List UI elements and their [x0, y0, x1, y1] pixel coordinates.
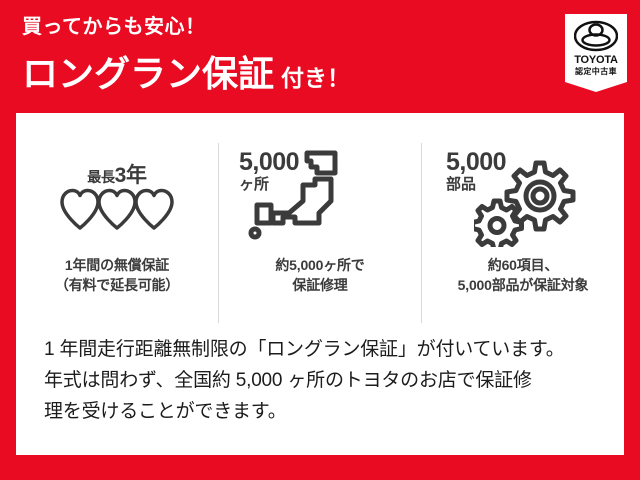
toyota-wordmark: TOYOTA [565, 55, 627, 66]
header-text-group: 買ってからも安心！ ロングラン保証付き！ [22, 16, 542, 97]
feature-3-caption: 約60項目、 5,000部品が保証対象 [458, 255, 589, 296]
header-headline: ロングラン保証付き！ [22, 45, 542, 97]
feature-2-artwork: 5,000 ヶ所 [219, 143, 421, 255]
body-copy-line3: 理を受けることができます。 [44, 397, 604, 428]
toyota-certified-logo: TOYOTA 認定中古車 [565, 14, 627, 96]
feature-warranty-period: 最長3年 1年間の無償保証 （有料で延長可能） [16, 143, 218, 323]
headline-suffix-text: 付き！ [281, 65, 350, 91]
feature-3-caption-line1: 約60項目、 [458, 255, 589, 275]
feature-2-caption-line1: 約5,000ヶ所で [275, 255, 364, 275]
warranty-banner: 買ってからも安心！ ロングラン保証付き！ TOYOTA 認定中古車 [0, 0, 640, 480]
body-copy-line2: 年式は問わず、全国約 5,000 ヶ所のトヨタのお店で保証修 [44, 366, 604, 397]
logo-chevron-shape [565, 79, 627, 96]
feature-2-number: 5,000 [239, 149, 299, 175]
feature-1-label-small: 最長 [87, 169, 114, 185]
banner-header: 買ってからも安心！ ロングラン保証付き！ TOYOTA 認定中古車 [0, 0, 640, 113]
feature-1-caption-line1: 1年間の無償保証 [55, 255, 179, 275]
body-copy-line1: 1 年間走行距離無制限の「ロングラン保証」が付いています。 [44, 335, 604, 366]
feature-columns: 最長3年 1年間の無償保証 （有料で延長可能） [16, 143, 624, 323]
feature-1-caption-line2: （有料で延長可能） [55, 275, 179, 295]
feature-3-unit: 部品 [446, 177, 506, 193]
toyota-emblem-icon [574, 20, 618, 52]
header-kicker: 買ってからも安心！ [22, 16, 542, 38]
feature-3-artwork: 5,000 部品 [422, 143, 624, 255]
feature-2-caption-line2: 保証修理 [275, 275, 364, 295]
toyota-certified-label: 認定中古車 [565, 68, 627, 76]
headline-main-text: ロングラン保証 [22, 53, 274, 94]
feature-2-caption: 約5,000ヶ所で 保証修理 [275, 255, 364, 296]
feature-3-number: 5,000 [446, 149, 506, 175]
feature-service-locations: 5,000 ヶ所 約5,000ヶ所で 保証修理 [218, 143, 421, 323]
body-copy: 1 年間走行距離無制限の「ロングラン保証」が付いています。 年式は問わず、全国約… [44, 335, 604, 427]
feature-1-artwork: 最長3年 [16, 143, 218, 255]
bottom-red-bar [0, 455, 640, 480]
feature-1-caption: 1年間の無償保証 （有料で延長可能） [55, 255, 179, 296]
feature-1-label-large: 3年 [115, 164, 147, 187]
content-card: 最長3年 1年間の無償保証 （有料で延長可能） [16, 113, 624, 455]
feature-covered-parts: 5,000 部品 約60項目、 5,000部品が保証対象 [421, 143, 624, 323]
feature-3-caption-line2: 5,000部品が保証対象 [458, 275, 589, 295]
feature-3-label: 5,000 部品 [446, 149, 506, 193]
feature-2-label: 5,000 ヶ所 [239, 149, 299, 193]
feature-2-unit: ヶ所 [239, 177, 299, 193]
three-hearts-icon [59, 185, 175, 231]
